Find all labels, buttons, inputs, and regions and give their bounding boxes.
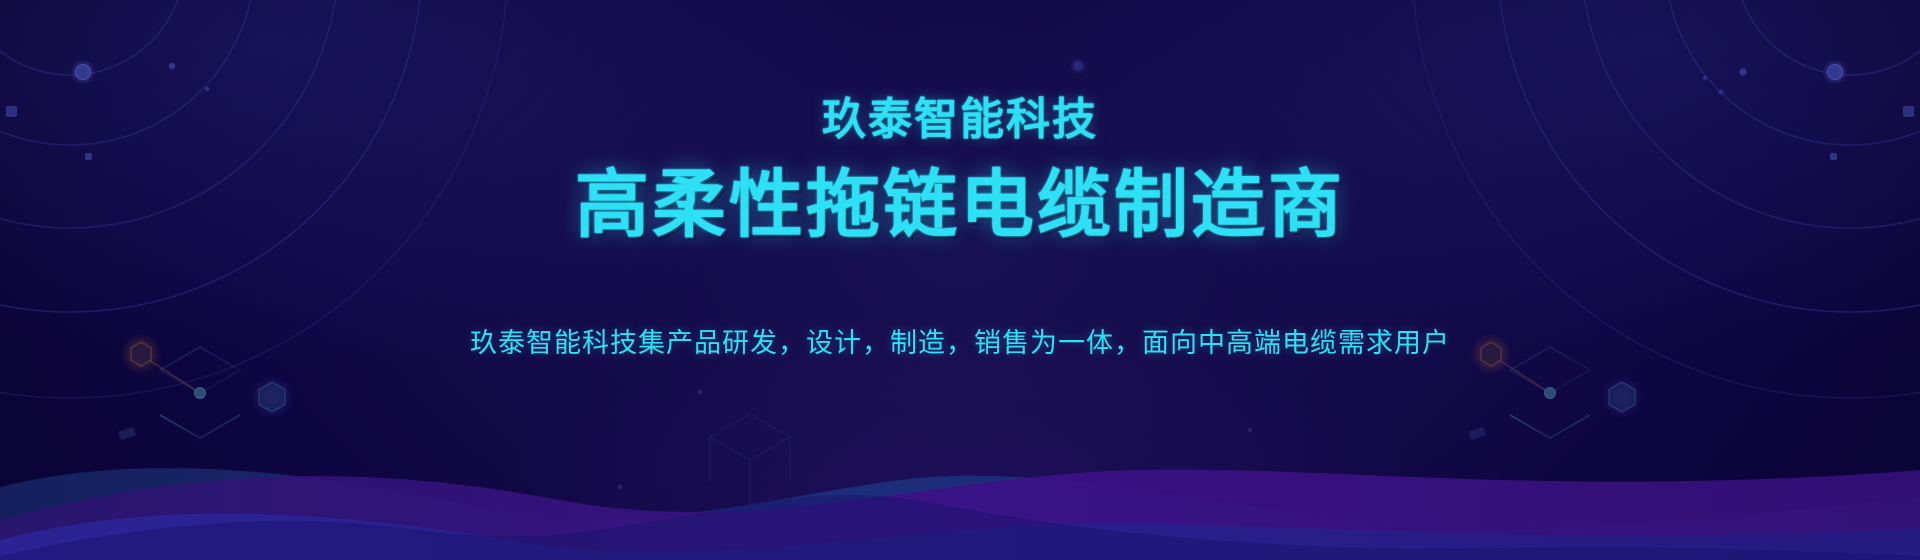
decoration-layer <box>0 0 1920 560</box>
wireframe-cube-left <box>118 333 294 440</box>
arc-group-left <box>0 0 508 398</box>
hero-banner: 玖泰智能科技 高柔性拖链电缆制造商 玖泰智能科技集产品研发，设计，制造，销售为一… <box>0 0 1920 560</box>
faint-cube-center <box>710 414 790 505</box>
background-specks <box>453 57 1252 512</box>
wave-group <box>0 468 1920 560</box>
arc-nodes-right <box>1703 59 1914 160</box>
wireframe-cube-right <box>1468 333 1644 440</box>
